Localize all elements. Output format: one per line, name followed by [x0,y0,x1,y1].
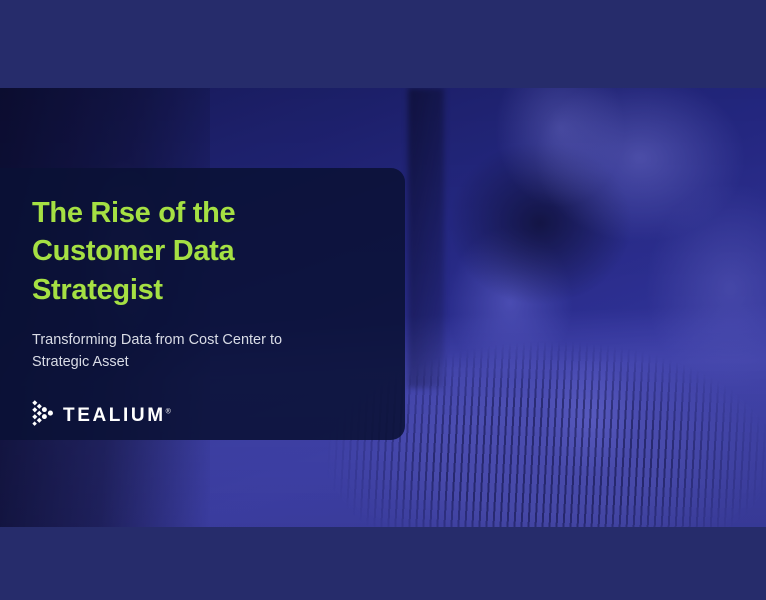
bottom-margin-band [0,527,766,600]
copy-panel: The Rise of the Customer Data Strategist… [0,168,405,440]
page-subtitle: Transforming Data from Cost Center to St… [32,329,332,374]
tealium-diamond-mark [32,400,56,431]
tealium-wordmark-text: TEALIUM [63,405,166,426]
tealium-logo: TEALIUM® [32,400,405,431]
trademark-symbol: ® [166,408,171,415]
slide-canvas: The Rise of the Customer Data Strategist… [0,0,766,600]
top-margin-band [0,0,766,88]
tealium-wordmark: TEALIUM® [63,406,171,425]
page-title: The Rise of the Customer Data Strategist [32,194,332,309]
